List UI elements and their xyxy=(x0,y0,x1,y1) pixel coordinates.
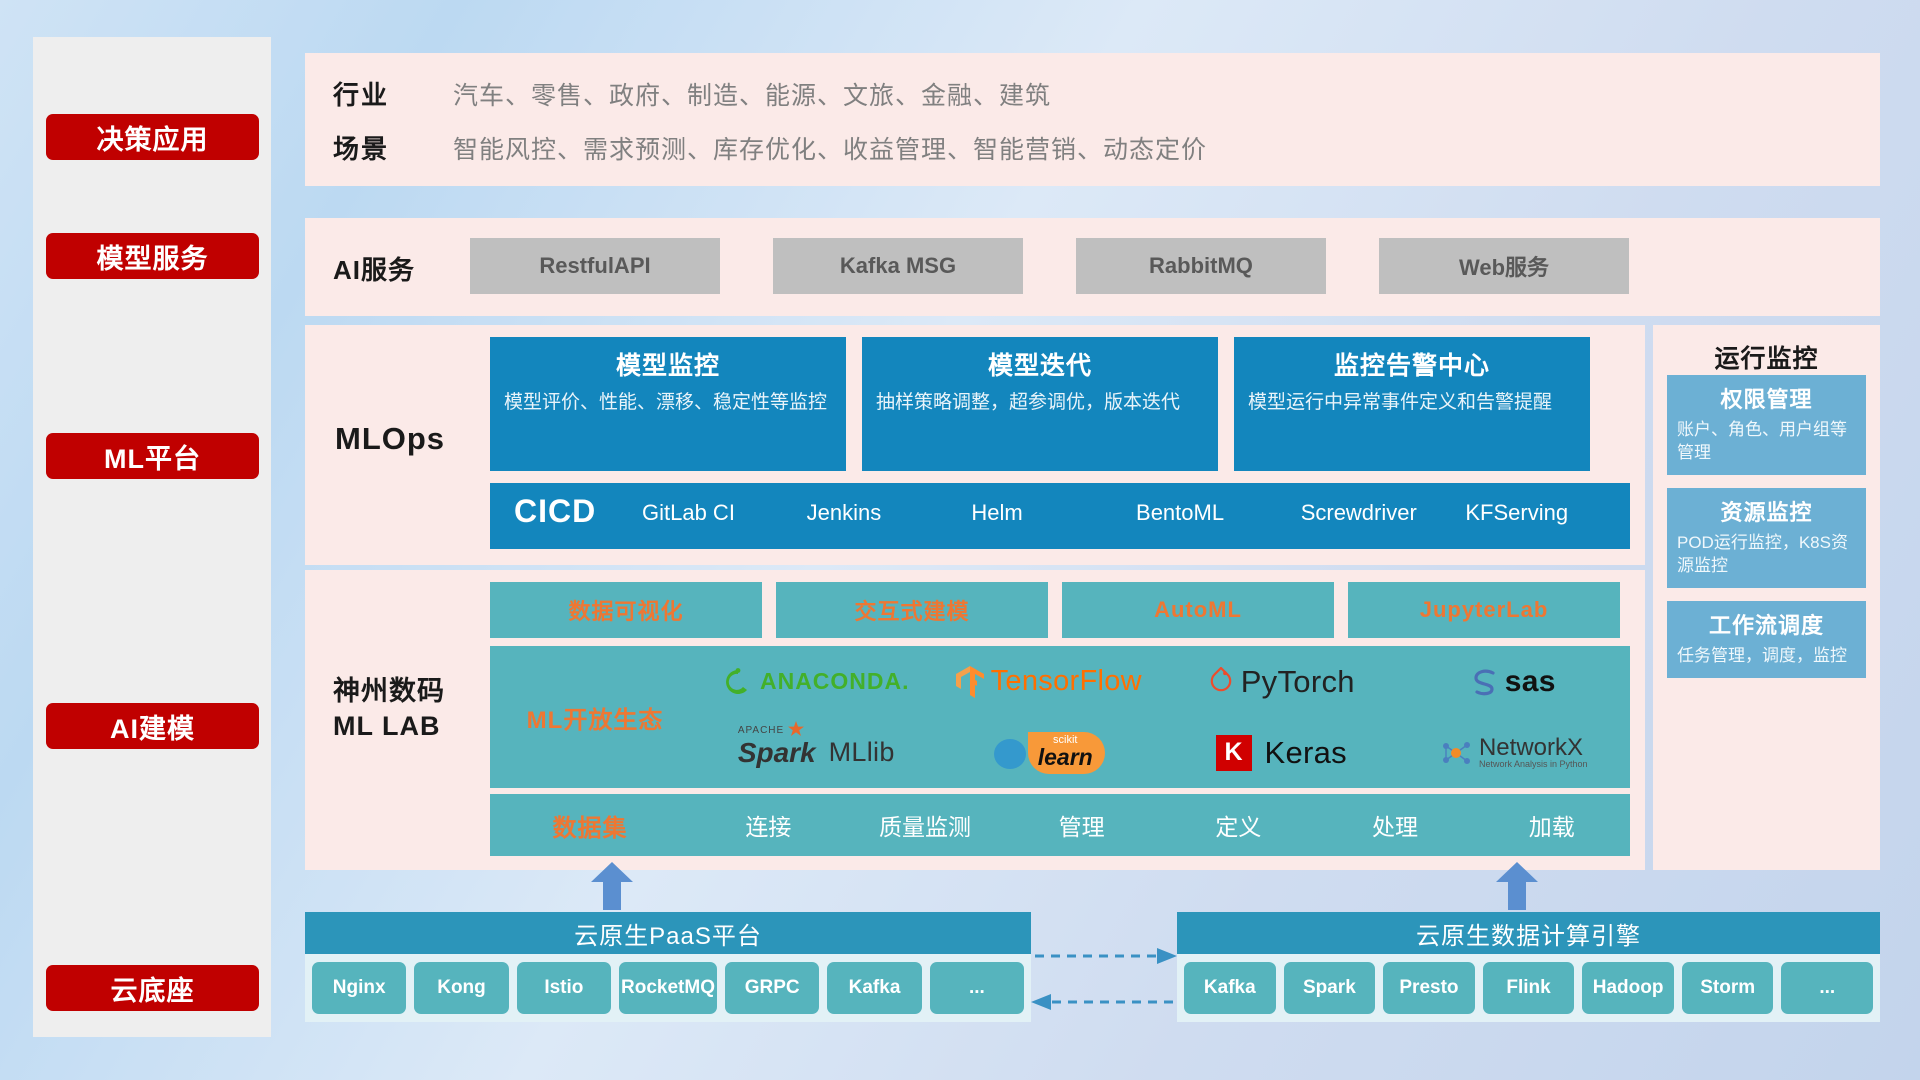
paas-chip-nginx[interactable]: Nginx xyxy=(312,962,406,1014)
keras-k-icon: K xyxy=(1216,735,1252,771)
spark-apache-label: APACHE xyxy=(738,725,784,736)
keras-wordmark: Keras xyxy=(1265,735,1347,771)
cloud-native-data-engine-block: 云原生数据计算引擎 Kafka Spark Presto Flink Hadoo… xyxy=(1177,912,1880,1022)
dataset-item-define[interactable]: 定义 xyxy=(1160,808,1317,842)
cicd-item-gitlab-ci[interactable]: GitLab CI xyxy=(642,483,807,527)
ai-service-chip-list: RestfulAPI Kafka MSG RabbitMQ Web服务 xyxy=(470,238,1629,294)
industry-values: 汽车、零售、政府、制造、能源、文旅、金融、建筑 xyxy=(453,76,1051,112)
ml-lab-label-line1: 神州数码 xyxy=(333,674,445,709)
cloud-native-paas-header: 云原生PaaS平台 xyxy=(305,912,1031,954)
data-engine-up-arrow-icon xyxy=(1495,862,1539,910)
mlops-card-title: 模型监控 xyxy=(504,346,832,382)
tensorflow-icon xyxy=(956,666,984,698)
ml-open-ecosystem-panel: ML开放生态 ANACONDA. xyxy=(490,646,1630,788)
stage-chip-cloud-base[interactable]: 云底座 xyxy=(46,965,259,1011)
monitor-card-desc: POD运行监控，K8S资源监控 xyxy=(1677,532,1856,578)
paas-chip-more[interactable]: ... xyxy=(930,962,1024,1014)
sas-icon xyxy=(1472,668,1498,696)
runtime-monitoring-title: 运行监控 xyxy=(1653,325,1880,375)
paas-chip-grpc[interactable]: GRPC xyxy=(725,962,819,1014)
tool-chip-interactive-modeling[interactable]: 交互式建模 xyxy=(776,582,1048,638)
paas-chip-kafka[interactable]: Kafka xyxy=(827,962,921,1014)
architecture-diagram: 决策应用 模型服务 ML平台 AI建模 云底座 行业 汽车、零售、政府、制造、能… xyxy=(0,0,1920,1080)
ecosystem-logo-grid: ANACONDA. TensorFlow xyxy=(700,646,1630,788)
monitor-card-title: 资源监控 xyxy=(1677,495,1856,527)
dataset-item-manage[interactable]: 管理 xyxy=(1003,808,1160,842)
networkx-tagline: Network Analysis in Python xyxy=(1479,760,1588,769)
stage-chip-ml-platform[interactable]: ML平台 xyxy=(46,433,259,479)
cicd-item-screwdriver[interactable]: Screwdriver xyxy=(1301,483,1466,527)
dataset-item-connect[interactable]: 连接 xyxy=(690,808,847,842)
engine-chip-more[interactable]: ... xyxy=(1781,962,1873,1014)
ai-service-band: AI服务 RestfulAPI Kafka MSG RabbitMQ Web服务 xyxy=(305,218,1880,316)
engine-chip-kafka[interactable]: Kafka xyxy=(1184,962,1276,1014)
mlops-card-title: 模型迭代 xyxy=(876,346,1204,382)
stage-chip-ai-modeling[interactable]: AI建模 xyxy=(46,703,259,749)
tensorflow-wordmark: TensorFlow xyxy=(991,665,1142,698)
networkx-logo: NetworkX Network Analysis in Python xyxy=(1440,736,1588,769)
cloud-native-data-engine-header: 云原生数据计算引擎 xyxy=(1177,912,1880,954)
ai-service-chip-restfulapi[interactable]: RestfulAPI xyxy=(470,238,720,294)
networkx-wordmark: NetworkX xyxy=(1479,736,1588,760)
spark-wordmark: Spark xyxy=(738,737,816,768)
anaconda-logo: ANACONDA. xyxy=(723,667,910,697)
cicd-bar: CICD GitLab CI Jenkins Helm BentoML Scre… xyxy=(490,483,1630,549)
stage-chip-decision-app[interactable]: 决策应用 xyxy=(46,114,259,160)
arrow-head-right-icon xyxy=(1157,948,1177,964)
sas-wordmark: sas xyxy=(1505,665,1556,699)
ai-service-chip-web-service[interactable]: Web服务 xyxy=(1379,238,1629,294)
decision-application-band: 行业 汽车、零售、政府、制造、能源、文旅、金融、建筑 场景 智能风控、需求预测、… xyxy=(305,53,1880,186)
tool-chip-automl[interactable]: AutoML xyxy=(1062,582,1334,638)
cicd-item-helm[interactable]: Helm xyxy=(971,483,1136,527)
mlops-card-title: 监控告警中心 xyxy=(1248,346,1576,382)
mlops-card-desc: 模型运行中异常事件定义和告警提醒 xyxy=(1248,390,1576,416)
ai-modeling-band: 神州数码 ML LAB 数据可视化 交互式建模 AutoML JupyterLa… xyxy=(305,570,1645,870)
monitor-card-workflow-scheduling[interactable]: 工作流调度 任务管理，调度，监控 xyxy=(1667,601,1866,678)
arrow-head-left-icon xyxy=(1031,994,1051,1010)
networkx-graph-icon xyxy=(1440,738,1472,768)
mlops-band: MLOps 模型监控 模型评价、性能、漂移、稳定性等监控 模型迭代 抽样策略调整… xyxy=(305,325,1645,565)
spark-star-icon xyxy=(788,721,804,737)
paas-chip-kong[interactable]: Kong xyxy=(414,962,508,1014)
modeling-tool-list: 数据可视化 交互式建模 AutoML JupyterLab xyxy=(490,582,1620,638)
paas-up-arrow-icon xyxy=(590,862,634,910)
dataset-item-process[interactable]: 处理 xyxy=(1317,808,1474,842)
monitor-card-desc: 任务管理，调度，监控 xyxy=(1677,645,1856,668)
engine-chip-presto[interactable]: Presto xyxy=(1383,962,1475,1014)
keras-logo: K Keras xyxy=(1216,735,1347,771)
cloud-native-paas-chip-list: Nginx Kong Istio RocketMQ GRPC Kafka ... xyxy=(305,954,1031,1022)
stage-rail: 决策应用 模型服务 ML平台 AI建模 云底座 xyxy=(33,37,271,1037)
engine-chip-storm[interactable]: Storm xyxy=(1682,962,1774,1014)
mlops-card-list: 模型监控 模型评价、性能、漂移、稳定性等监控 模型迭代 抽样策略调整，超参调优，… xyxy=(490,337,1590,471)
industry-row: 行业 汽车、零售、政府、制造、能源、文旅、金融、建筑 xyxy=(333,75,1051,112)
cicd-item-bentoml[interactable]: BentoML xyxy=(1136,483,1301,527)
mllib-wordmark: MLlib xyxy=(829,737,895,768)
anaconda-wordmark: ANACONDA. xyxy=(760,668,910,695)
mlops-label: MLOps xyxy=(335,421,445,457)
cloud-native-paas-block: 云原生PaaS平台 Nginx Kong Istio RocketMQ GRPC… xyxy=(305,912,1031,1022)
dataset-item-load[interactable]: 加载 xyxy=(1473,808,1630,842)
scikit-learn-logo: scikit learn xyxy=(993,732,1105,774)
ai-service-label: AI服务 xyxy=(333,250,415,287)
content-column: 行业 汽车、零售、政府、制造、能源、文旅、金融、建筑 场景 智能风控、需求预测、… xyxy=(305,0,1905,1080)
tool-chip-data-visualization[interactable]: 数据可视化 xyxy=(490,582,762,638)
dataset-title: 数据集 xyxy=(490,808,690,843)
scenario-label: 场景 xyxy=(333,129,453,166)
ai-service-chip-kafka-msg[interactable]: Kafka MSG xyxy=(773,238,1023,294)
ml-lab-label-line2: ML LAB xyxy=(333,709,445,744)
stage-chip-model-service[interactable]: 模型服务 xyxy=(46,233,259,279)
cicd-item-jenkins[interactable]: Jenkins xyxy=(807,483,972,527)
anaconda-icon xyxy=(723,667,753,697)
ml-open-ecosystem-title: ML开放生态 xyxy=(490,700,700,735)
mlops-card-desc: 模型评价、性能、漂移、稳定性等监控 xyxy=(504,390,832,416)
monitor-card-title: 权限管理 xyxy=(1677,382,1856,414)
engine-chip-hadoop[interactable]: Hadoop xyxy=(1582,962,1674,1014)
ml-lab-label: 神州数码 ML LAB xyxy=(333,674,445,744)
ai-service-chip-rabbitmq[interactable]: RabbitMQ xyxy=(1076,238,1326,294)
engine-chip-flink[interactable]: Flink xyxy=(1483,962,1575,1014)
monitor-card-desc: 账户、角色、用户组等管理 xyxy=(1677,419,1856,465)
runtime-monitoring-band: 运行监控 权限管理 账户、角色、用户组等管理 资源监控 POD运行监控，K8S资… xyxy=(1653,325,1880,870)
monitor-card-resource-monitoring[interactable]: 资源监控 POD运行监控，K8S资源监控 xyxy=(1667,488,1866,588)
pytorch-wordmark: PyTorch xyxy=(1241,664,1355,700)
monitor-card-permission-management[interactable]: 权限管理 账户、角色、用户组等管理 xyxy=(1667,375,1866,475)
sas-logo: sas xyxy=(1472,665,1556,699)
industry-label: 行业 xyxy=(333,75,453,112)
mlops-card-desc: 抽样策略调整，超参调优，版本迭代 xyxy=(876,390,1204,416)
dataset-bar: 数据集 连接 质量监测 管理 定义 处理 加载 xyxy=(490,794,1630,856)
spark-mllib-logo: APACHE Spark MLlib xyxy=(738,737,895,769)
paas-chip-rocketmq[interactable]: RocketMQ xyxy=(619,962,717,1014)
cicd-title: CICD xyxy=(490,483,642,530)
mlops-card-model-monitoring[interactable]: 模型监控 模型评价、性能、漂移、稳定性等监控 xyxy=(490,337,846,471)
learn-wordmark: learn xyxy=(1038,746,1093,769)
pytorch-logo: PyTorch xyxy=(1208,664,1355,700)
dataset-item-quality-monitoring[interactable]: 质量监测 xyxy=(847,808,1004,842)
mlops-card-model-iteration[interactable]: 模型迭代 抽样策略调整，超参调优，版本迭代 xyxy=(862,337,1218,471)
scenario-values: 智能风控、需求预测、库存优化、收益管理、智能营销、动态定价 xyxy=(453,130,1207,166)
bidirectional-dashed-connectors xyxy=(1031,940,1177,1020)
pytorch-icon xyxy=(1208,667,1234,697)
tool-chip-jupyterlab[interactable]: JupyterLab xyxy=(1348,582,1620,638)
paas-chip-istio[interactable]: Istio xyxy=(517,962,611,1014)
tensorflow-logo: TensorFlow xyxy=(956,665,1142,698)
cicd-item-kfserving[interactable]: KFServing xyxy=(1465,483,1630,527)
engine-chip-spark[interactable]: Spark xyxy=(1284,962,1376,1014)
monitor-card-title: 工作流调度 xyxy=(1677,608,1856,640)
mlops-card-alert-center[interactable]: 监控告警中心 模型运行中异常事件定义和告警提醒 xyxy=(1234,337,1590,471)
scenario-row: 场景 智能风控、需求预测、库存优化、收益管理、智能营销、动态定价 xyxy=(333,129,1207,166)
cloud-native-data-engine-chip-list: Kafka Spark Presto Flink Hadoop Storm ..… xyxy=(1177,954,1880,1022)
